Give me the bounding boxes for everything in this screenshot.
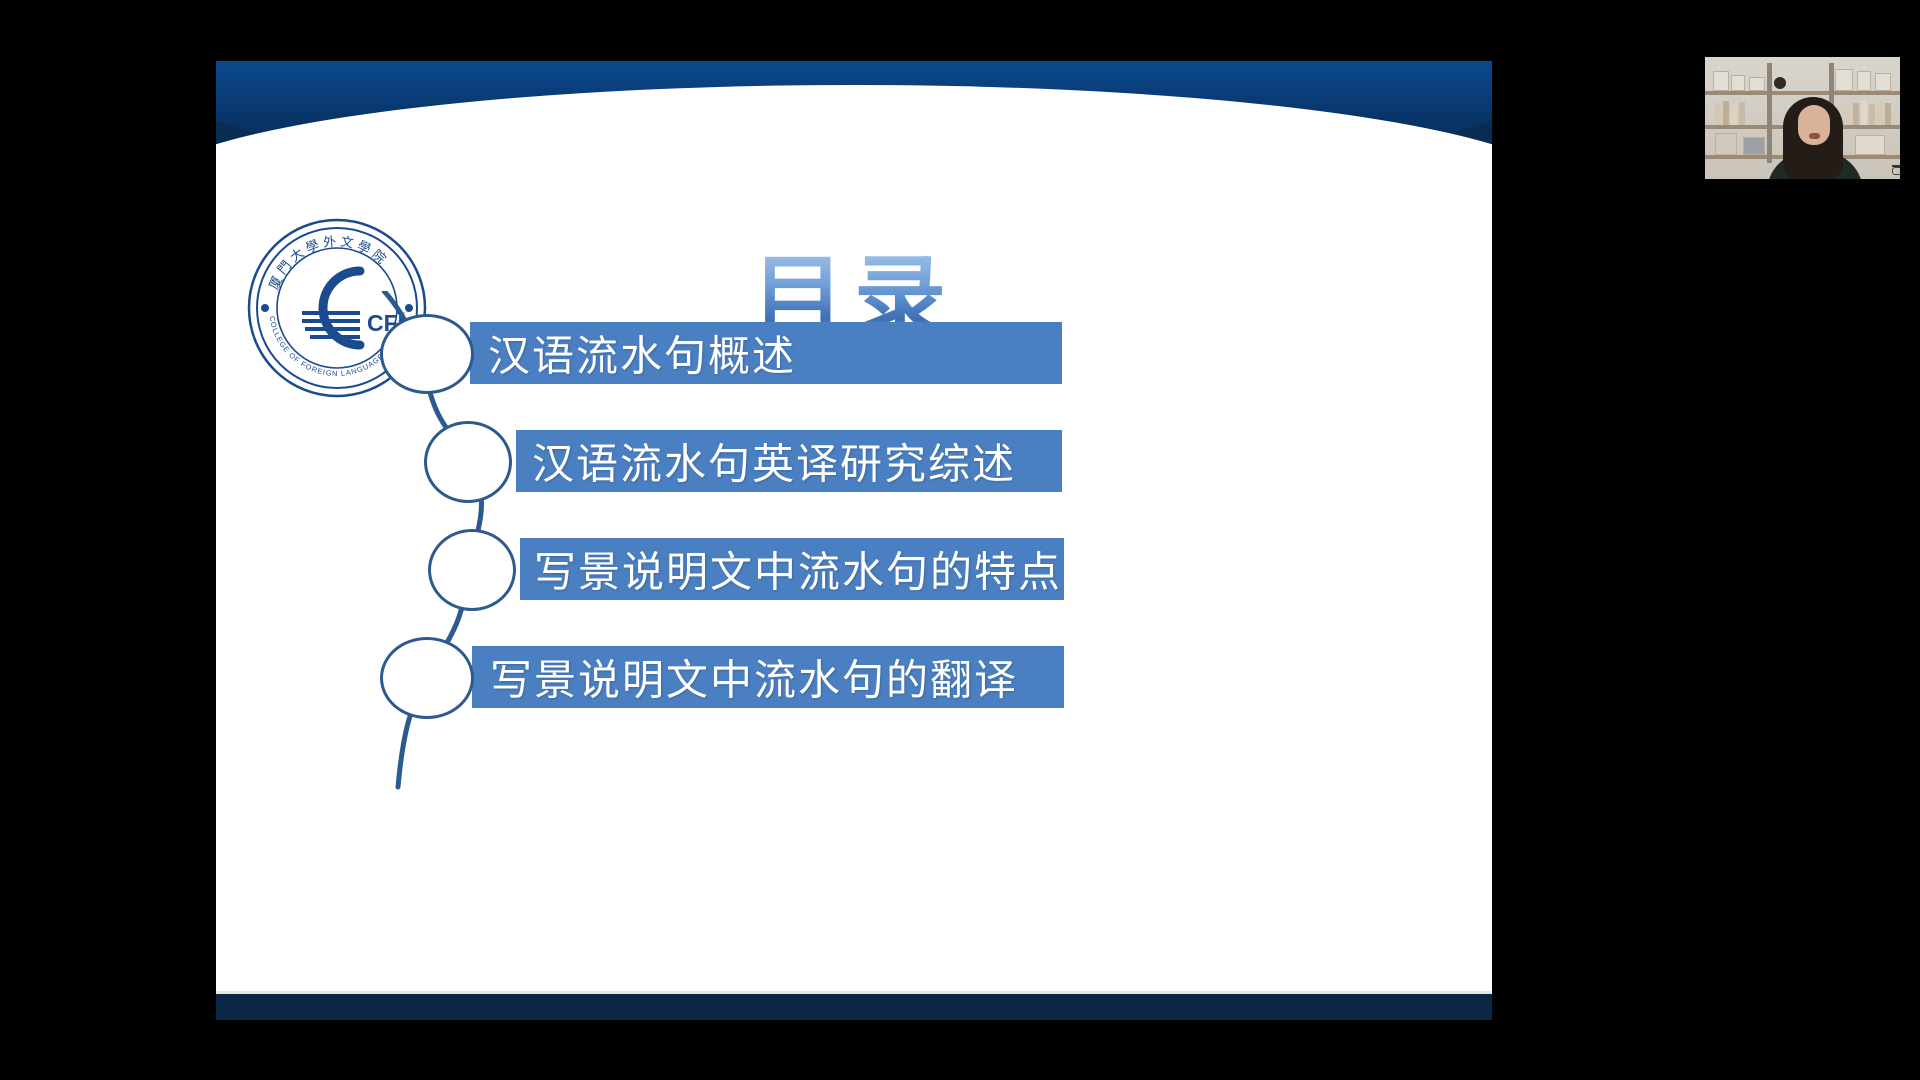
shelf-box	[1749, 77, 1765, 91]
presenter-video-tile[interactable]	[1705, 57, 1900, 179]
agenda-item-1-label: 汉语流水句概述	[488, 323, 796, 384]
shelf-book	[1739, 102, 1745, 125]
decorative-camera-icon	[1774, 77, 1786, 89]
shelf-box	[1835, 69, 1853, 91]
shelf-object	[1743, 137, 1765, 155]
agenda-item-1[interactable]: 汉语流水句概述	[216, 322, 1492, 384]
shelf-book	[1715, 103, 1721, 125]
agenda-item-2-node	[424, 421, 512, 503]
screen-share-stage: CFLC 厦門大學外文學院 COLLEGE OF FOREIGN LANGUAG…	[0, 0, 1920, 1080]
agenda-list: 汉语流水句概述 汉语流水句英译研究综述 写景说明文中流水句的特点 写景说明文中流…	[216, 61, 1492, 1020]
shelf-box	[1857, 71, 1871, 91]
shelf-book	[1731, 105, 1737, 125]
presenter-face	[1798, 105, 1830, 145]
shelf-book	[1853, 103, 1859, 125]
shelf-book	[1845, 101, 1851, 125]
shelf-top	[1705, 91, 1900, 95]
presenter-glasses	[1892, 165, 1900, 173]
glasses-lens-left	[1892, 167, 1900, 175]
shelf-object	[1855, 135, 1885, 155]
agenda-item-4-node	[380, 637, 474, 719]
agenda-item-2[interactable]: 汉语流水句英译研究综述	[216, 430, 1492, 492]
agenda-item-3-node	[428, 529, 516, 611]
agenda-item-3[interactable]: 写景说明文中流水句的特点	[216, 538, 1492, 600]
agenda-item-4[interactable]: 写景说明文中流水句的翻译	[216, 646, 1492, 708]
shelf-object	[1715, 133, 1737, 155]
shelf-box	[1875, 73, 1891, 91]
agenda-item-1-node	[380, 314, 474, 394]
shelf-book	[1723, 101, 1729, 125]
slide-footer-bar	[216, 994, 1492, 1020]
agenda-item-2-label: 汉语流水句英译研究综述	[532, 431, 1016, 492]
shelf-book	[1885, 103, 1891, 125]
agenda-item-4-label: 写景说明文中流水句的翻译	[490, 647, 1018, 708]
shelf-post-left	[1767, 63, 1772, 163]
shelf-book	[1861, 100, 1867, 125]
shelf-box	[1731, 75, 1745, 91]
agenda-item-3-label: 写景说明文中流水句的特点	[534, 539, 1062, 600]
shelf-book	[1877, 101, 1883, 125]
shelf-book	[1869, 104, 1875, 125]
presenter-mouth	[1809, 133, 1820, 139]
shelf-box	[1713, 71, 1729, 91]
presentation-slide: CFLC 厦門大學外文學院 COLLEGE OF FOREIGN LANGUAG…	[216, 61, 1492, 1020]
